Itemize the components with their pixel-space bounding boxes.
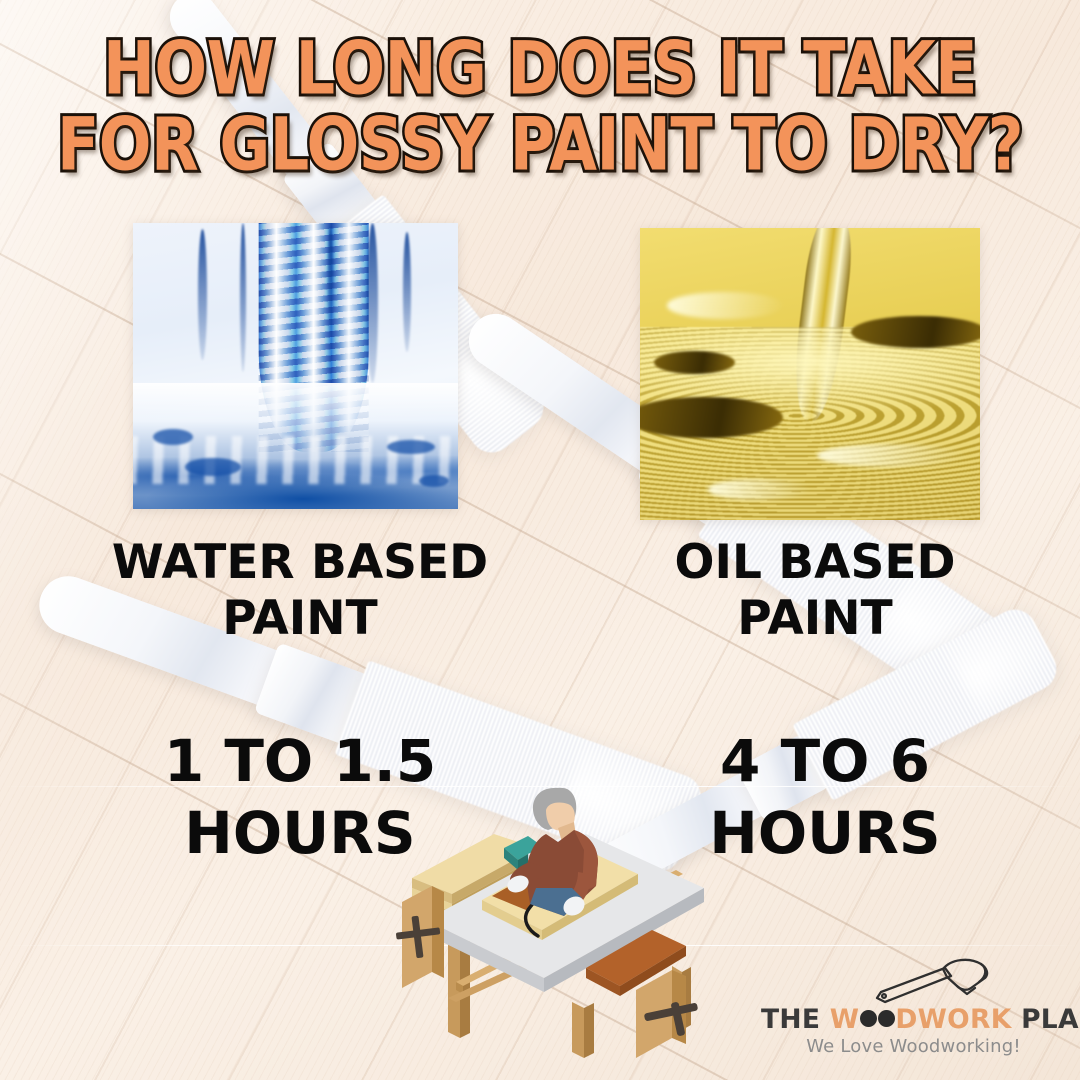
oil-based-paint-photo: [640, 228, 980, 520]
brand-logo[interactable]: THE WDWORK PLACE We Love Woodworking!: [761, 960, 1066, 1068]
brand-name-dwork: DWORK: [895, 1004, 1011, 1035]
water-splash: [185, 458, 241, 476]
brand-name-the: THE: [761, 1004, 820, 1035]
water-streak: [198, 229, 207, 361]
hammer-icon: [871, 958, 999, 1006]
brand-name-o-dot-2: [878, 1010, 895, 1027]
oil-highlight: [667, 292, 783, 318]
brand-tagline: We Love Woodworking!: [761, 1036, 1066, 1057]
oil-highlight: [708, 479, 810, 499]
brand-name-w: W: [830, 1004, 860, 1035]
brand-name: THE WDWORK PLACE: [761, 1004, 1066, 1035]
water-streak: [328, 226, 333, 335]
brand-name-o-dot-1: [860, 1010, 877, 1027]
water-streak: [403, 232, 411, 352]
oil-dark-ripple: [851, 316, 980, 348]
water-splash: [153, 429, 193, 445]
woodworker-illustration: [386, 770, 716, 1060]
brand-name-place: PLACE: [1021, 1004, 1080, 1035]
water-splash: [419, 475, 449, 487]
vise-left: [396, 886, 444, 988]
water-streak: [367, 223, 378, 383]
oil-dark-ripple: [654, 351, 736, 374]
water-based-paint-photo: [133, 223, 458, 509]
water-streak: [240, 223, 246, 372]
